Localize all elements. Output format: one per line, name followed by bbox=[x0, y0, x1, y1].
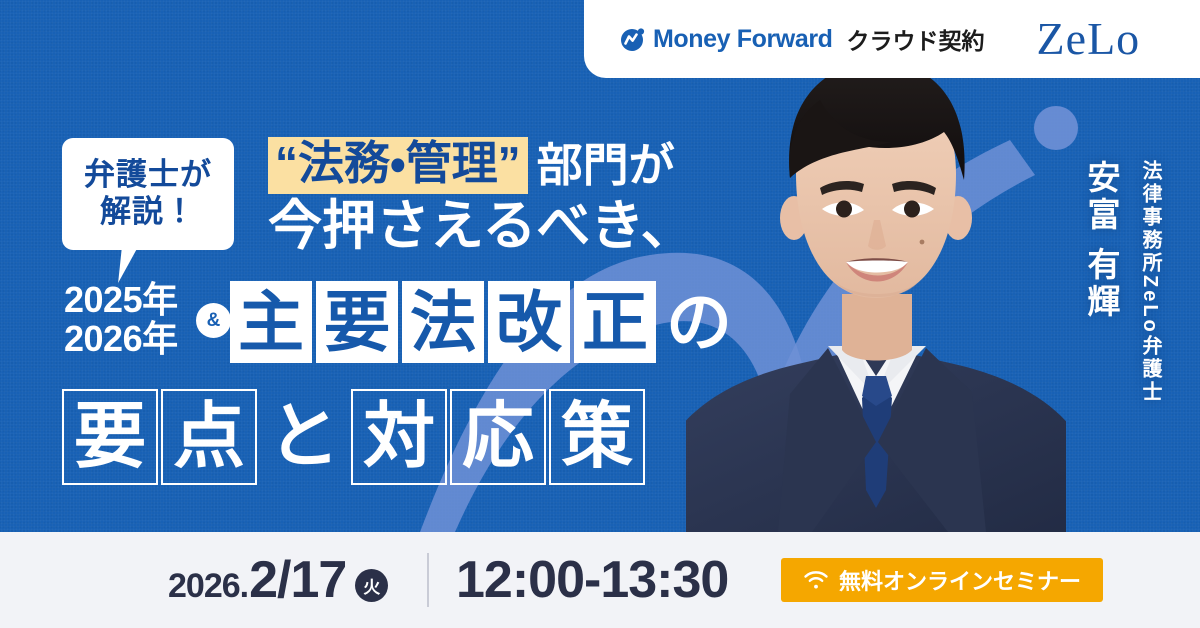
bubble-line-1: 弁護士が bbox=[84, 157, 212, 194]
headline-line-1: “法務・管理” 部門が bbox=[268, 137, 675, 194]
year-first: 2025年 bbox=[64, 281, 178, 320]
title-char-box: 主 bbox=[230, 281, 312, 363]
wifi-icon bbox=[803, 570, 829, 590]
seminar-banner: Money Forward クラウド契約 ZeLo 弁護士が 解説！ “法務・管… bbox=[0, 0, 1200, 628]
event-day: 2/17 bbox=[249, 550, 346, 610]
headline-line-2: 今押さえるべき、 bbox=[268, 198, 695, 255]
title-char-box: 法 bbox=[402, 281, 484, 363]
title-char-box: 正 bbox=[574, 281, 656, 363]
title-char-outline: 対 bbox=[351, 389, 447, 485]
lawyer-explains-bubble: 弁護士が 解説！ bbox=[62, 138, 234, 250]
title-char-plain: と bbox=[268, 401, 340, 473]
brand-name: Money Forward bbox=[653, 25, 833, 54]
headline-line1-rest: 部門が bbox=[537, 142, 675, 190]
badge-label: 無料オンラインセミナー bbox=[839, 564, 1081, 596]
title-char-outline: 応 bbox=[450, 389, 546, 485]
speaker-portrait bbox=[686, 46, 1066, 532]
headline-highlight: “法務・管理” bbox=[268, 137, 528, 194]
bubble-tail bbox=[118, 247, 148, 283]
event-year: 2026. bbox=[168, 567, 248, 606]
bubble-line-2: 解説！ bbox=[100, 194, 196, 231]
zelo-logo: ZeLo bbox=[1037, 16, 1141, 62]
main-title-row-2: 要 点 と 対 応 策 bbox=[62, 389, 645, 485]
title-row1-suffix: の bbox=[666, 289, 732, 355]
hero-area: Money Forward クラウド契約 ZeLo 弁護士が 解説！ “法務・管… bbox=[0, 0, 1200, 532]
title-char-box: 要 bbox=[316, 281, 398, 363]
main-title-row-1: 主 要 法 改 正 の bbox=[230, 281, 732, 363]
event-date: 2026. 2/17 火 bbox=[168, 550, 388, 610]
brand-product: クラウド契約 bbox=[847, 22, 985, 56]
money-forward-mark-icon bbox=[620, 26, 646, 52]
years-label: 2025年 2026年 bbox=[64, 281, 178, 358]
ampersand-badge: & bbox=[196, 303, 231, 338]
footer-divider bbox=[427, 553, 429, 607]
title-char-box: 改 bbox=[488, 281, 570, 363]
header-logo-panel: Money Forward クラウド契約 ZeLo bbox=[584, 0, 1200, 78]
speaker-role: 法律事務所ZeLo弁護士 bbox=[1140, 160, 1160, 404]
title-char-outline: 要 bbox=[62, 389, 158, 485]
money-forward-logo: Money Forward クラウド契約 bbox=[620, 22, 985, 56]
speaker-name: 安富 有輝 bbox=[1085, 160, 1118, 321]
footer-bar: 2026. 2/17 火 12:00-13:30 無料オンラインセミナー bbox=[0, 532, 1200, 628]
title-char-outline: 策 bbox=[549, 389, 645, 485]
free-online-seminar-badge: 無料オンラインセミナー bbox=[781, 558, 1103, 602]
event-time: 12:00-13:30 bbox=[456, 550, 728, 610]
title-char-outline: 点 bbox=[161, 389, 257, 485]
day-of-week-badge: 火 bbox=[355, 569, 388, 602]
year-second: 2026年 bbox=[64, 320, 178, 359]
